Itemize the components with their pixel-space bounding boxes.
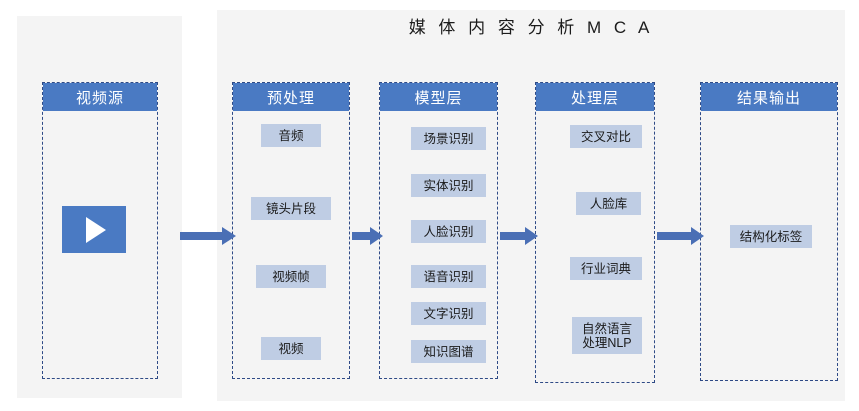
play-icon[interactable] bbox=[62, 206, 126, 253]
node-model-2[interactable]: 人脸识别 bbox=[411, 220, 486, 243]
lane-header-preprocess[interactable]: 预处理 bbox=[233, 83, 349, 111]
lane-header-model-layer[interactable]: 模型层 bbox=[380, 83, 497, 111]
node-processing-2[interactable]: 行业词典 bbox=[570, 257, 642, 280]
node-processing-0[interactable]: 交叉对比 bbox=[570, 125, 642, 148]
node-model-0[interactable]: 场景识别 bbox=[411, 127, 486, 150]
node-processing-1[interactable]: 人脸库 bbox=[576, 192, 641, 215]
arrow-model-to-processing bbox=[500, 227, 538, 245]
node-processing-3[interactable]: 自然语言 处理NLP bbox=[572, 317, 642, 354]
node-model-4[interactable]: 文字识别 bbox=[411, 302, 486, 325]
node-preprocess-0[interactable]: 音频 bbox=[261, 124, 321, 147]
lane-header-processing-layer[interactable]: 处理层 bbox=[536, 83, 654, 111]
arrow-processing-to-result bbox=[657, 227, 704, 245]
node-result-0[interactable]: 结构化标签 bbox=[730, 225, 812, 248]
diagram-canvas: 媒 体 内 容 分 析 M C A 视频源 预处理 音频 镜头片段 视频帧 视频… bbox=[0, 0, 859, 411]
play-triangle bbox=[86, 217, 106, 243]
lane-header-result-output[interactable]: 结果输出 bbox=[701, 83, 837, 111]
page-title: 媒 体 内 容 分 析 M C A bbox=[217, 17, 845, 39]
node-preprocess-3[interactable]: 视频 bbox=[261, 337, 321, 360]
node-model-1[interactable]: 实体识别 bbox=[411, 174, 486, 197]
lane-header-video-source[interactable]: 视频源 bbox=[43, 83, 157, 111]
node-model-5[interactable]: 知识图谱 bbox=[411, 340, 486, 363]
arrow-preprocess-to-model bbox=[352, 227, 383, 245]
arrow-video-to-preprocess bbox=[180, 227, 236, 245]
node-preprocess-1[interactable]: 镜头片段 bbox=[251, 197, 331, 220]
node-preprocess-2[interactable]: 视频帧 bbox=[256, 265, 326, 288]
node-model-3[interactable]: 语音识别 bbox=[411, 265, 486, 288]
